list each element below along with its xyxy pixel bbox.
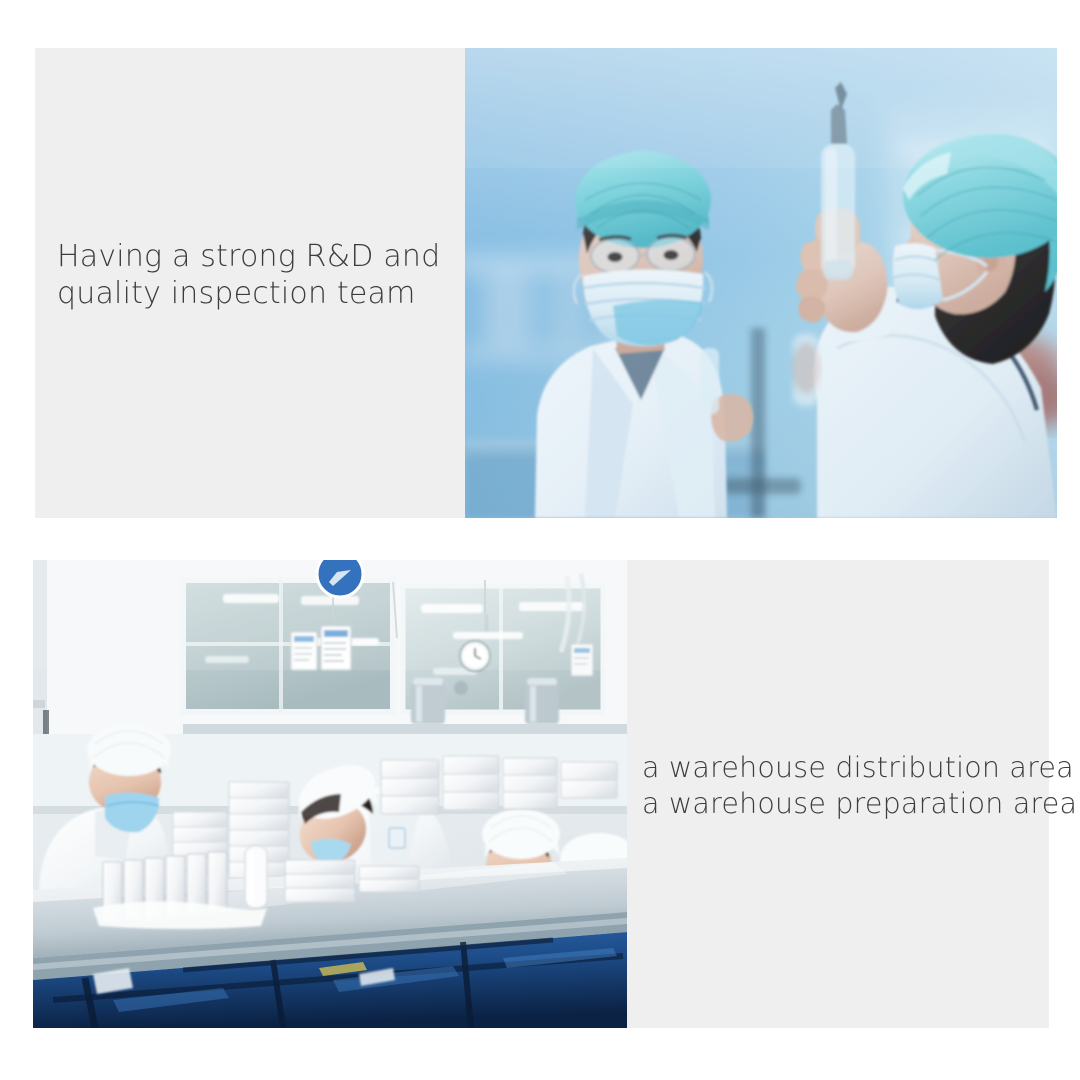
lab-technicians-illustration [465,48,1057,518]
caption-rnd-quality: Having a strong R&D and quality inspecti… [57,238,457,312]
caption-line-2: quality inspection team [57,275,457,312]
caption-line-1: a warehouse distribution area [642,750,1047,786]
caption-line-2: a warehouse preparation area [642,786,1047,822]
page-canvas: Having a strong R&D and quality inspecti… [0,0,1080,1080]
lab-technicians-photo [465,48,1057,518]
caption-line-1: Having a strong R&D and [57,238,457,275]
warehouse-packing-illustration [33,560,627,1028]
caption-warehouse: a warehouse distribution area a warehous… [642,750,1047,822]
section-warehouse: a warehouse distribution area a warehous… [33,560,1049,1028]
section-rnd-quality: Having a strong R&D and quality inspecti… [35,48,1057,518]
warehouse-packing-photo [33,560,627,1028]
